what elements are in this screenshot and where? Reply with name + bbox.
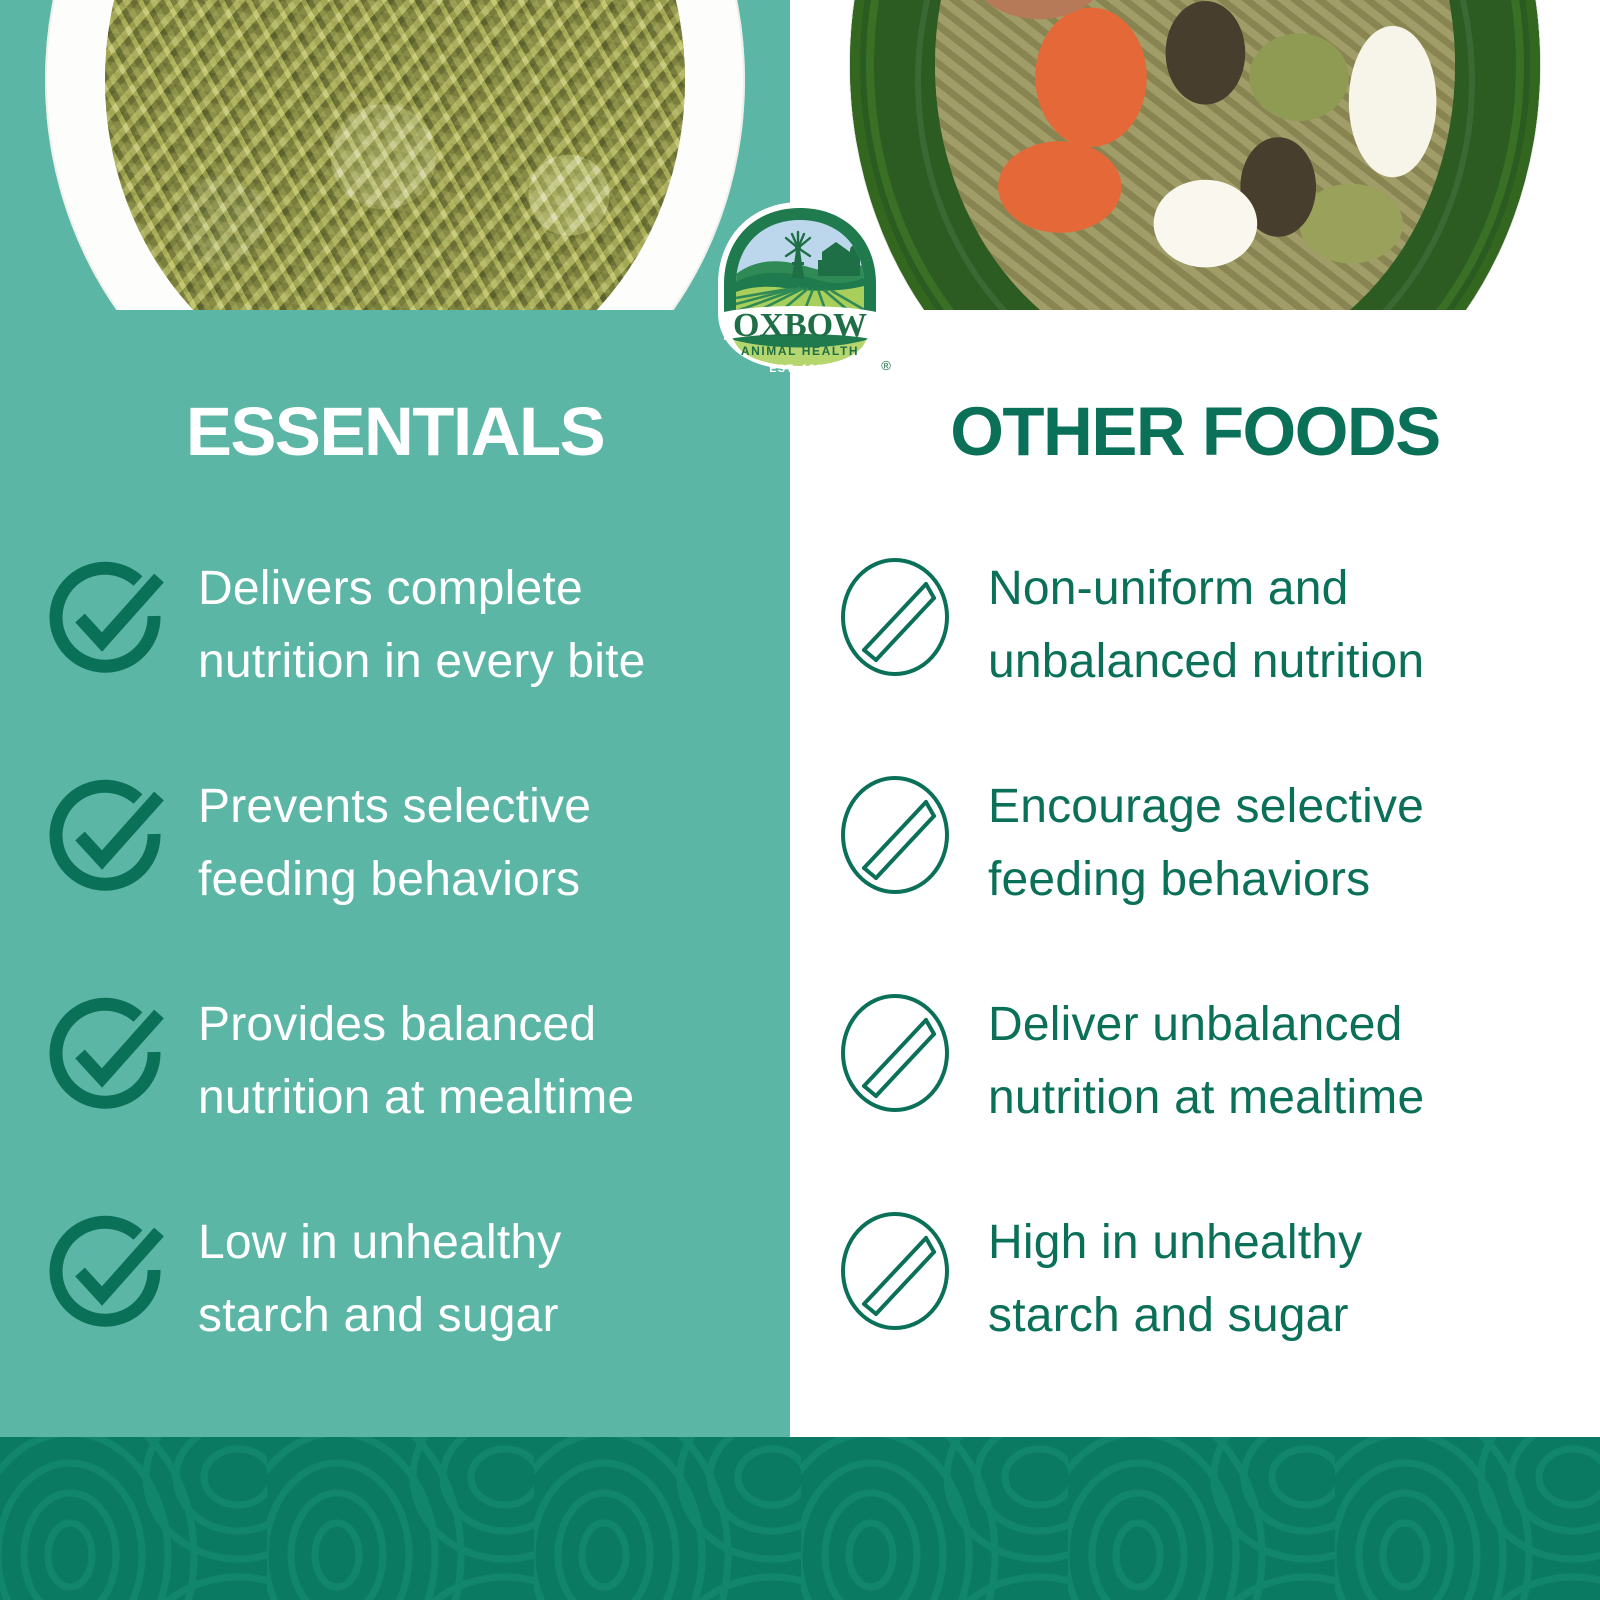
- green-bowl-contents: [935, 0, 1455, 310]
- prohibited-circle-slash-icon: [830, 770, 960, 900]
- essentials-photo: [0, 0, 790, 310]
- list-item-line2: unbalanced nutrition: [988, 635, 1424, 688]
- list-item-line1: Prevents selective: [198, 780, 591, 833]
- list-item-line2: nutrition at mealtime: [198, 1071, 634, 1124]
- logo-established: EST. 1980: [769, 363, 831, 375]
- list-item-line2: nutrition at mealtime: [988, 1071, 1424, 1124]
- list-item-text: Encourage selective feeding behaviors: [988, 758, 1600, 916]
- other-foods-drawback-list: Non-uniform and unbalanced nutrition Enc…: [790, 540, 1600, 1412]
- list-item: Provides balanced nutrition at mealtime: [0, 976, 790, 1194]
- comparison-infographic: OXBOW ANIMAL HEALTH EST. 1980 ® ESSENTIA…: [0, 0, 1600, 1600]
- check-circle-icon: [42, 988, 172, 1118]
- other-foods-photo: [790, 0, 1600, 310]
- list-item-line2: feeding behaviors: [198, 853, 580, 906]
- list-item: Deliver unbalanced nutrition at mealtime: [790, 976, 1600, 1194]
- list-item: Prevents selective feeding behaviors: [0, 758, 790, 976]
- essentials-heading: ESSENTIALS: [0, 396, 790, 468]
- list-item-line1: Deliver unbalanced: [988, 998, 1403, 1051]
- list-item-line2: nutrition in every bite: [198, 635, 646, 688]
- list-item: Non-uniform and unbalanced nutrition: [790, 540, 1600, 758]
- list-item-text: Deliver unbalanced nutrition at mealtime: [988, 976, 1600, 1134]
- other-foods-heading: OTHER FOODS: [790, 396, 1600, 468]
- white-bowl-shape: [45, 0, 745, 310]
- list-item-text: Low in unhealthy starch and sugar: [198, 1194, 790, 1352]
- list-item-line2: starch and sugar: [988, 1289, 1349, 1342]
- check-circle-icon: [42, 552, 172, 682]
- list-item-line1: Non-uniform and: [988, 562, 1349, 615]
- check-circle-icon: [42, 1206, 172, 1336]
- list-item-text: High in unhealthy starch and sugar: [988, 1194, 1600, 1352]
- list-item-line1: Provides balanced: [198, 998, 596, 1051]
- prohibited-circle-slash-icon: [830, 988, 960, 1118]
- logo-tagline: ANIMAL HEALTH: [741, 344, 859, 358]
- logo-wordmark: OXBOW: [733, 307, 867, 344]
- list-item-line2: feeding behaviors: [988, 853, 1370, 906]
- list-item-line1: Encourage selective: [988, 780, 1424, 833]
- list-item-line1: Low in unhealthy: [198, 1216, 561, 1269]
- footer-pattern-band: [0, 1437, 1600, 1600]
- essentials-benefit-list: Delivers complete nutrition in every bit…: [0, 540, 790, 1412]
- list-item-line2: starch and sugar: [198, 1289, 559, 1342]
- oxbow-logo: OXBOW ANIMAL HEALTH EST. 1980 ®: [700, 200, 900, 388]
- white-bowl-contents: [105, 0, 685, 310]
- prohibited-circle-slash-icon: [830, 1206, 960, 1336]
- prohibited-circle-slash-icon: [830, 552, 960, 682]
- list-item-line1: High in unhealthy: [988, 1216, 1362, 1269]
- list-item: Encourage selective feeding behaviors: [790, 758, 1600, 976]
- concentric-circles-wood-grain-pattern: [0, 1437, 1600, 1600]
- muesli-mix-texture: [935, 0, 1455, 310]
- hay-pellets-texture: [105, 0, 685, 310]
- list-item-text: Delivers complete nutrition in every bit…: [198, 540, 790, 698]
- list-item-text: Provides balanced nutrition at mealtime: [198, 976, 790, 1134]
- list-item-text: Prevents selective feeding behaviors: [198, 758, 790, 916]
- logo-registered-mark: ®: [881, 358, 891, 373]
- list-item-text: Non-uniform and unbalanced nutrition: [988, 540, 1600, 698]
- list-item-line1: Delivers complete: [198, 562, 583, 615]
- check-circle-icon: [42, 770, 172, 900]
- list-item: High in unhealthy starch and sugar: [790, 1194, 1600, 1412]
- green-bowl-shape: [850, 0, 1540, 310]
- list-item: Low in unhealthy starch and sugar: [0, 1194, 790, 1412]
- list-item: Delivers complete nutrition in every bit…: [0, 540, 790, 758]
